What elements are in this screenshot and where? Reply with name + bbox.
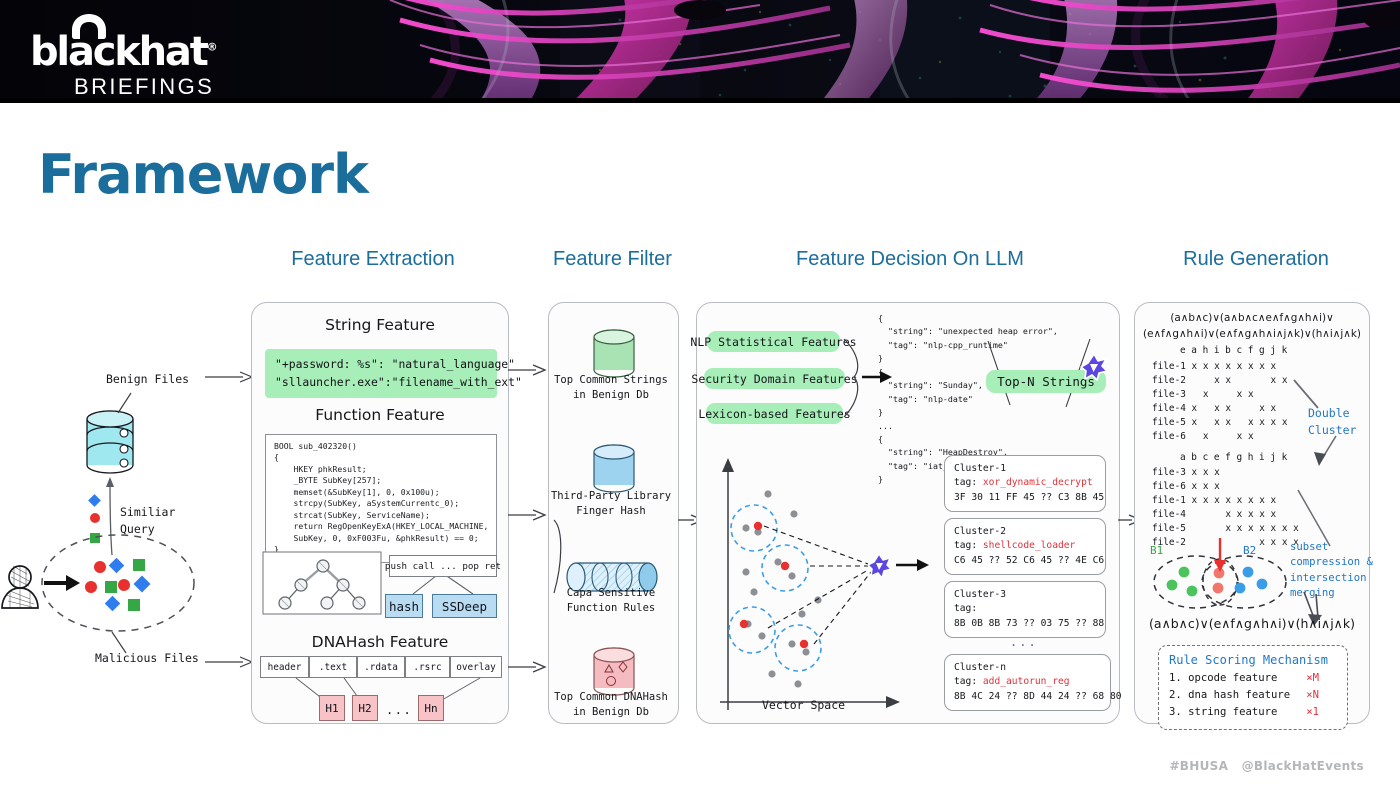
m1-file-3-label: file-3 (1152, 389, 1186, 400)
column-heading-feature-extraction: Feature Extraction (282, 248, 464, 271)
matrix-2-row-file-4: file-4 x x x x x (1152, 508, 1276, 521)
matrix-2-row-file-6: file-6 x x x (1152, 480, 1220, 493)
third-party-library-database-icon (594, 445, 634, 492)
logo-subtitle: BRIEFINGS (74, 76, 214, 98)
vector-space-plot (706, 452, 936, 717)
function-feature-code: BOOL sub_402320() { HKEY phkResult; _BYT… (265, 434, 497, 563)
m2-file-6-label: file-6 (1152, 481, 1186, 492)
logo-registered-mark: ® (207, 41, 218, 54)
m1-file-4-marks: x x x x x (1192, 403, 1277, 414)
benign-files-label: Benign Files (106, 372, 189, 386)
dnahash-h2: H2 (352, 695, 378, 721)
filter-caption-capa-rules: Capa Sensitive Function Rules (531, 586, 691, 616)
dnahash-feature-title: DNAHash Feature (251, 633, 509, 651)
matrix-1-row-file-5: file-5 x x x x x x x (1152, 416, 1287, 429)
top-common-dnahash-database-icon (594, 648, 634, 695)
dnahash-ellipsis: ... (386, 703, 412, 717)
m2-file-4-label: file-4 (1152, 509, 1186, 520)
header-banner: blackhat® BRIEFINGS (0, 0, 1400, 103)
m1-file-6-marks: x x x (1192, 431, 1254, 442)
cluster-box-n: Cluster-n tag: add_autorun_reg 8B 4C 24 … (944, 654, 1111, 711)
score-row-dnahash-mult: ×N (1306, 687, 1319, 704)
score-row-string-mult: ×1 (1306, 704, 1319, 721)
cluster-n-bytes: 8B 4C 24 ?? 8D 44 24 ?? 68 80 (954, 691, 1122, 702)
feature-matrix-2-columns: a b c e f g h i j k (1180, 451, 1287, 464)
cluster-2-name: Cluster-2 (954, 526, 1006, 537)
m1-file-5-marks: x x x x x x x (1192, 417, 1288, 428)
pill-lexicon-based-features: Lexicon-based Features (706, 403, 843, 424)
m1-file-1-marks: x x x x x x x x (1192, 361, 1277, 372)
m1-file-2-label: file-2 (1152, 375, 1186, 386)
pill-security-domain-features: Security Domain Features (704, 368, 845, 389)
cluster-ellipsis: ... (1010, 635, 1038, 649)
vector-space-label: Vector Space (762, 698, 845, 712)
cluster-2-tag-label: tag: (954, 540, 983, 551)
cluster-1-tag-label: tag: (954, 477, 983, 488)
m2-file-4-marks: x x x x x (1192, 509, 1277, 520)
m1-file-4-label: file-4 (1152, 403, 1186, 414)
rule-scoring-mechanism-box: Rule Scoring Mechanism 1. opcode feature… (1158, 645, 1348, 730)
m1-file-5-label: file-5 (1152, 417, 1186, 428)
section-text: .text (309, 656, 357, 678)
cluster-1-tag: xor_dynamic_decrypt (983, 477, 1093, 488)
b2-label: B2 (1243, 543, 1256, 559)
double-cluster-label: Double Cluster (1308, 405, 1356, 438)
pill-nlp-statistical-features: NLP Statistical Features (707, 331, 840, 352)
cluster-2-bytes: C6 45 ?? 52 C6 45 ?? 4E C6 (954, 555, 1104, 566)
matrix-1-row-file-3: file-3 x x x (1152, 388, 1254, 401)
hash-box: hash (385, 594, 423, 618)
logo-wordmark: blackhat® (30, 32, 218, 72)
feature-matrix-1-columns: e a h i b c f g j k (1180, 344, 1287, 357)
m2-file-1-label: file-1 (1152, 495, 1186, 506)
score-row-string-label: 3. string feature (1169, 704, 1277, 721)
similar-query-label: Similiar Query (120, 504, 175, 539)
m2-file-5-marks: x x x x x x x (1192, 523, 1299, 534)
m2-file-1-marks: x x x x x x x x (1192, 495, 1277, 506)
cluster-3-tag-label: tag: (954, 603, 977, 614)
cluster-3-bytes: 8B 0B 8B 73 ?? 03 75 ?? 88 (954, 618, 1104, 629)
section-rdata: .rdata (357, 656, 405, 678)
cluster-box-2: Cluster-2 tag: shellcode_loader C6 45 ??… (944, 518, 1106, 575)
ssdeep-box: SSDeep (432, 594, 497, 618)
page-title: Framework (38, 143, 368, 206)
dnahash-h1: H1 (319, 695, 345, 721)
section-header: header (260, 656, 309, 678)
m1-file-1-label: file-1 (1152, 361, 1186, 372)
cluster-n-name: Cluster-n (954, 662, 1006, 673)
section-hash-connectors (260, 678, 505, 702)
column-heading-feature-filter: Feature Filter (525, 248, 700, 271)
filter-caption-third-party: Third-Party Library Finger Hash (531, 489, 691, 519)
score-row-dnahash: 2. dna hash feature ×N (1169, 687, 1319, 704)
m2-file-6-marks: x x x (1192, 481, 1220, 492)
score-row-opcode-label: 1. opcode feature (1169, 670, 1277, 687)
matrix-1-row-file-2: file-2 x x x x (1152, 374, 1287, 387)
dnahash-hn: Hn (418, 695, 444, 721)
logo-wordmark-text: blackhat (30, 29, 207, 75)
boolean-formula-bottom: (a∧b∧c)∨(e∧f∧g∧h∧i)∨(h∧i∧j∧k) (1134, 615, 1370, 634)
score-row-string: 3. string feature ×1 (1169, 704, 1319, 721)
b1-label: B1 (1150, 543, 1163, 559)
m2-file-3-label: file-3 (1152, 467, 1186, 478)
cluster-box-3: Cluster-3 tag: 8B 0B 8B 73 ?? 03 75 ?? 8… (944, 581, 1106, 638)
matrix-2-row-file-3: file-3 x x x (1152, 466, 1220, 479)
top-common-strings-database-icon (594, 330, 634, 377)
m1-file-6-label: file-6 (1152, 431, 1186, 442)
string-feature-title: String Feature (251, 316, 509, 334)
person-icon (2, 566, 38, 608)
cluster-box-1: Cluster-1 tag: xor_dynamic_decrypt 3F 30… (944, 455, 1106, 512)
score-row-opcode-mult: ×M (1306, 670, 1319, 687)
m1-file-3-marks: x x x (1192, 389, 1254, 400)
matrix-1-row-file-1: file-1 x x x x x x x x (1152, 360, 1276, 373)
cluster-1-bytes: 3F 30 11 FF 45 ?? C3 8B 45 (954, 492, 1104, 503)
score-row-opcode: 1. opcode feature ×M (1169, 670, 1319, 687)
b1-b2-venn-diagram (1148, 538, 1293, 616)
function-feature-title: Function Feature (251, 406, 509, 424)
llm-star-icon (1079, 352, 1109, 382)
filter-caption-dnahash: Top Common DNAHash in Benign Db (531, 690, 691, 720)
m2-file-5-label: file-5 (1152, 523, 1186, 534)
cluster-n-tag-label: tag: (954, 676, 983, 687)
cluster-n-tag: add_autorun_reg (983, 676, 1070, 687)
score-row-dnahash-label: 2. dna hash feature (1169, 687, 1290, 704)
matrix-1-row-file-6: file-6 x x x (1152, 430, 1254, 443)
footer-hashtags: #BHUSA @BlackHatEvents (1169, 759, 1364, 773)
rule-scoring-title: Rule Scoring Mechanism (1169, 653, 1337, 667)
arrow-extraction-to-filter-bottom (506, 655, 550, 681)
matrix-1-row-file-4: file-4 x x x x x (1152, 402, 1276, 415)
section-rsrc: .rsrc (405, 656, 450, 678)
cluster-1-name: Cluster-1 (954, 463, 1006, 474)
column-heading-feature-decision: Feature Decision On LLM (786, 248, 1034, 271)
m2-file-3-marks: x x x (1192, 467, 1220, 478)
section-overlay: overlay (450, 656, 502, 678)
malicious-files-label: Malicious Files (95, 651, 199, 665)
black-hat-logo: blackhat® BRIEFINGS (30, 12, 350, 94)
matrix-2-row-file-5: file-5 x x x x x x x (1152, 522, 1299, 535)
m1-file-2-marks: x x x x (1192, 375, 1288, 386)
boolean-formula-top: (a∧b∧c)∨(a∧b∧c∧e∧f∧g∧h∧i)∨ (e∧f∧g∧h∧i)∨(… (1134, 311, 1370, 342)
string-feature-code: "+password: %s": "natural_language" "sll… (265, 349, 497, 398)
filter-caption-top-strings: Top Common Strings in Benign Db (531, 373, 691, 403)
matrix-2-row-file-1: file-1 x x x x x x x x (1152, 494, 1276, 507)
cluster-3-name: Cluster-3 (954, 589, 1006, 600)
cluster-2-tag: shellcode_loader (983, 540, 1075, 551)
column-heading-rule-generation: Rule Generation (1155, 248, 1357, 271)
benign-files-database-icon (87, 411, 133, 473)
opcode-sequence-box: push call ... pop ret (389, 555, 497, 577)
